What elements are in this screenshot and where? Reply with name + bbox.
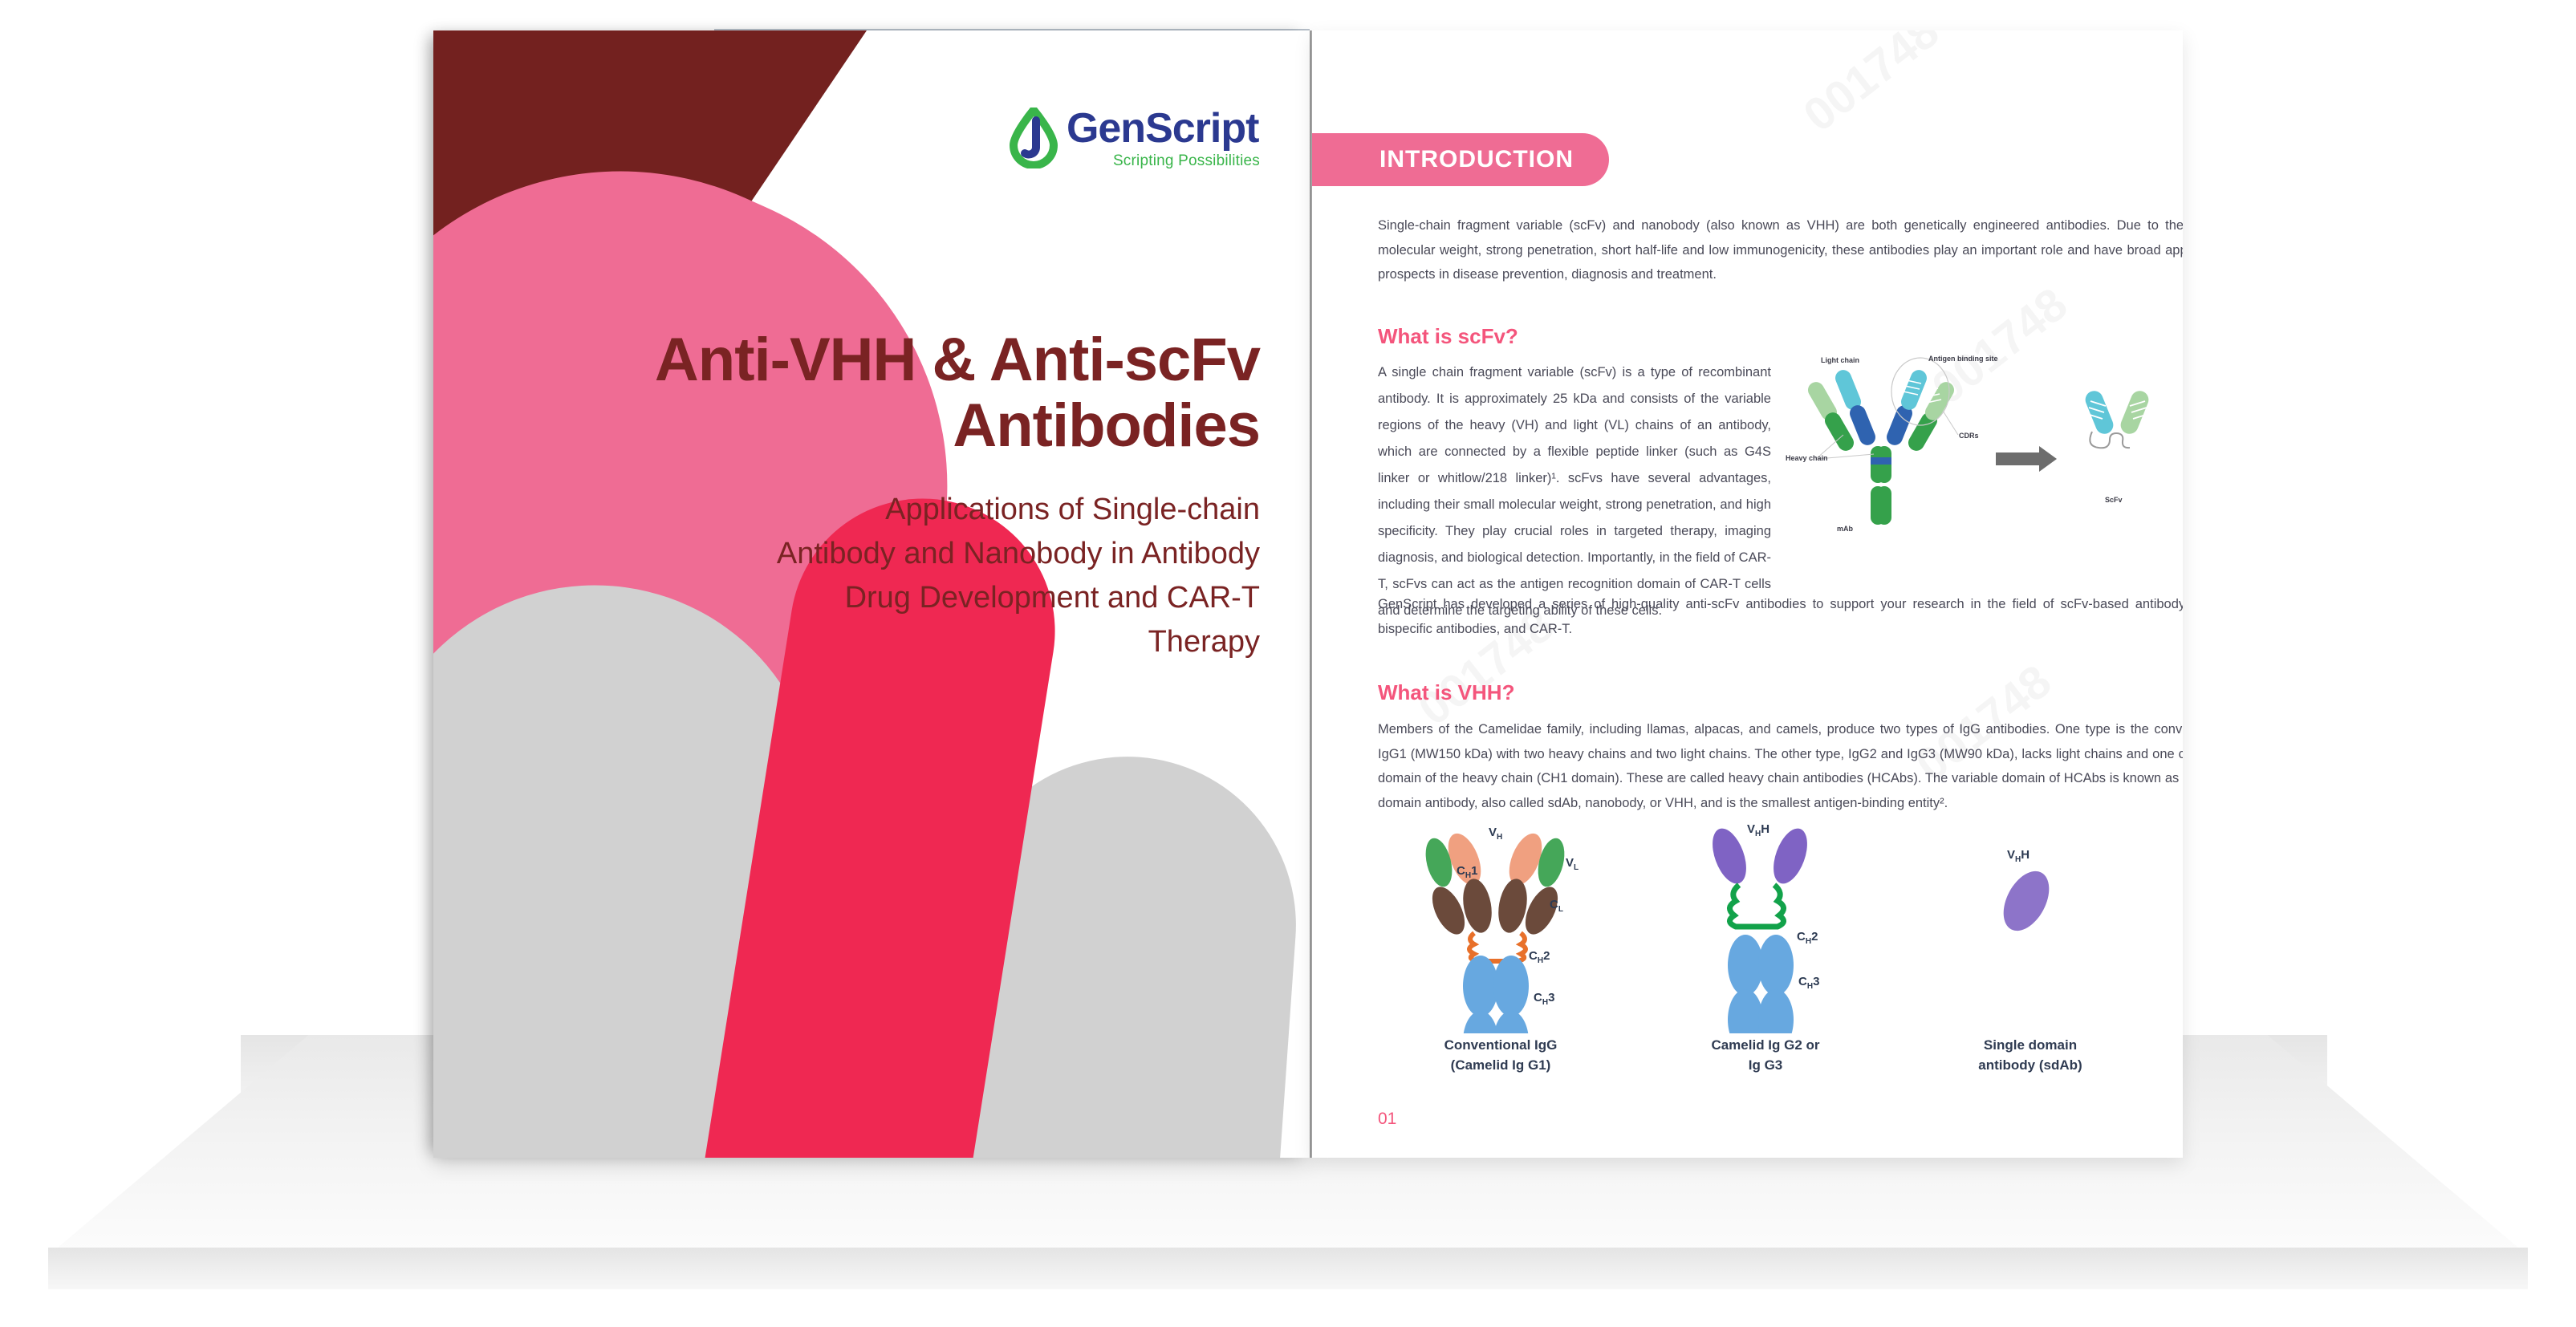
caption-line-1: Single domain [1984,1037,2077,1053]
genscript-logo: GenScript Scripting Possibilities [1009,108,1260,168]
caption-line-1: Conventional IgG [1444,1037,1558,1053]
panel-caption-conventional: Conventional IgG (Camelid Ig G1) [1368,1036,1633,1075]
cover-subtitle: Applications of Single-chain Antibody an… [762,488,1260,664]
heading-what-is-scfv: What is scFv? [1378,324,1518,349]
domain-label-cl: CL [1550,898,1563,914]
domain-label-ch3-2: CH3 [1798,975,1819,991]
introduction-banner-label: INTRODUCTION [1379,146,1574,173]
domain-label-ch3: CH3 [1534,991,1554,1007]
domain-label-vl: VL [1566,856,1579,872]
introduction-banner: INTRODUCTION [1312,133,1609,186]
label-cdrs: CDRs [1959,432,1979,440]
logo-wordmark: GenScript Scripting Possibilities [1067,108,1260,168]
scfv-paragraph: A single chain fragment variable (scFv) … [1378,359,1771,624]
page-number: 01 [1378,1110,1396,1129]
panel-caption-camelid: Camelid Ig G2 or Ig G3 [1633,1036,1898,1075]
label-mab: mAb [1837,525,1853,533]
label-light-chain: Light chain [1821,356,1859,364]
cover-page: GenScript Scripting Possibilities Anti-V… [433,30,1310,1158]
panel-camelid-igg2-igg3: VHH CH2 CH3 Camelid Ig G2 or Ig G3 [1633,821,1898,1037]
logo-tagline: Scripting Possibilities [1113,153,1260,168]
caption-line-1: Camelid Ig G2 or [1711,1037,1819,1053]
domain-label-vhh-3: VHH [2007,848,2030,864]
label-heavy-chain: Heavy chain [1786,454,1828,462]
inner-page: 001748 001748 001748 001748 INTRODUCTION… [1312,30,2183,1158]
caption-line-2: antibody (sdAb) [1978,1057,2082,1073]
label-scfv: ScFv [2105,496,2123,504]
caption-line-2: Ig G3 [1749,1057,1783,1073]
label-antigen-binding-site: Antigen binding site [1928,355,1998,363]
podium-front-face [48,1248,2528,1289]
cover-title: Anti-VHH & Anti-scFv Antibodies [554,327,1260,459]
domain-label-vh: VH [1489,826,1502,842]
droplet-icon [1009,108,1058,168]
domain-label-vhh-2: VHH [1747,822,1769,838]
antibody-comparison-figure: VH VL CH1 CL CH2 CH3 Conventional IgG (C… [1368,821,2179,1077]
domain-label-ch1: CH1 [1457,864,1477,880]
scfv-figure: Light chain Antigen binding site CDRs He… [1794,351,2171,552]
panel-single-domain-antibody: VHH Single domain antibody (sdAb) [1898,821,2163,1037]
domain-label-ch2: CH2 [1529,949,1550,965]
logo-word: GenScript [1067,108,1260,149]
caption-line-2: (Camelid Ig G1) [1451,1057,1551,1073]
introduction-paragraph: Single-chain fragment variable (scFv) an… [1378,213,2183,287]
vhh-paragraph: Members of the Camelidae family, includi… [1378,717,2183,815]
panel-caption-sdab: Single domain antibody (sdAb) [1898,1036,2163,1075]
heading-what-is-vhh: What is VHH? [1378,680,1514,705]
watermark-top: 001748 [1794,30,1949,142]
domain-label-ch2-2: CH2 [1797,930,1818,946]
genscript-paragraph: GenScript has developed a series of high… [1378,592,2183,641]
panel-conventional-igg: VH VL CH1 CL CH2 CH3 Conventional IgG (C… [1368,821,1633,1037]
